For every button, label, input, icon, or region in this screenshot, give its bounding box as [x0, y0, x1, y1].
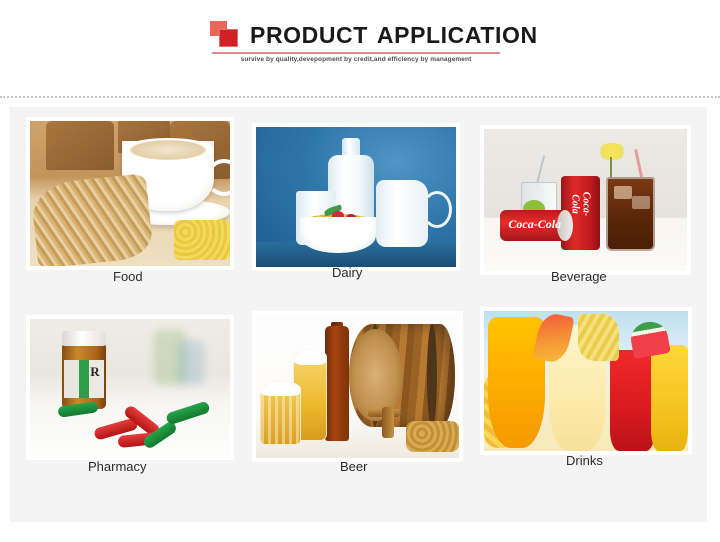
product-application-page: PRODUCTAPPLICATION survive by quality,de…: [0, 0, 720, 542]
gallery-item-pharmacy[interactable]: R Pharmacy: [18, 307, 233, 497]
page-title-secondary: APPLICATION: [377, 22, 538, 48]
gallery-item-food[interactable]: Food: [18, 117, 233, 307]
beverage-thumbnail-frame[interactable]: Coca-Cola Coca-Cola: [480, 125, 691, 275]
title-row: PRODUCTAPPLICATION: [210, 18, 510, 52]
gallery-caption-beverage: Beverage: [551, 269, 607, 284]
drinks-thumbnail-frame[interactable]: [480, 307, 692, 455]
gallery-item-beverage[interactable]: Coca-Cola Coca-Cola Beverage: [476, 117, 696, 307]
header-inner: PRODUCTAPPLICATION survive by quality,de…: [210, 18, 510, 74]
gallery-item-beer[interactable]: Beer: [248, 303, 463, 493]
pharmacy-rx-label: R: [86, 364, 104, 380]
header-dotted-divider: [0, 96, 720, 98]
pharmacy-thumbnail-frame[interactable]: R: [26, 315, 234, 460]
content-panel: Food: [10, 107, 707, 522]
beer-image: [256, 315, 459, 458]
beverage-image: Coca-Cola Coca-Cola: [484, 129, 687, 271]
beverage-brand-text-upright: Coca-Cola: [569, 185, 591, 224]
gallery-caption-beer: Beer: [340, 459, 367, 474]
page-title-primary: PRODUCT: [250, 22, 368, 48]
beer-thumbnail-frame[interactable]: [252, 311, 463, 462]
food-thumbnail-frame[interactable]: [26, 117, 234, 270]
dairy-thumbnail-frame[interactable]: [252, 123, 460, 271]
gallery-caption-pharmacy: Pharmacy: [88, 459, 147, 474]
gallery-item-drinks[interactable]: Drinks: [476, 303, 696, 493]
gallery-item-dairy[interactable]: Dairy: [248, 117, 463, 307]
gallery-caption-food: Food: [113, 269, 143, 284]
title-underline: [212, 52, 500, 54]
page-header: PRODUCTAPPLICATION survive by quality,de…: [0, 0, 720, 97]
red-squares-logo-icon: [210, 20, 244, 50]
logo-square-dark: [219, 29, 238, 47]
drinks-image: [484, 311, 688, 451]
page-title: PRODUCTAPPLICATION: [250, 20, 538, 50]
gallery-caption-dairy: Dairy: [332, 265, 362, 280]
dairy-image: [256, 127, 456, 267]
pharmacy-image: R: [30, 319, 230, 456]
application-gallery-grid: Food: [10, 107, 707, 522]
gallery-caption-drinks: Drinks: [566, 453, 603, 468]
page-subtitle: survive by quality,devepopment by credit…: [210, 56, 502, 63]
food-image: [30, 121, 230, 266]
beverage-brand-text-lying: Coca-Cola: [504, 217, 565, 232]
